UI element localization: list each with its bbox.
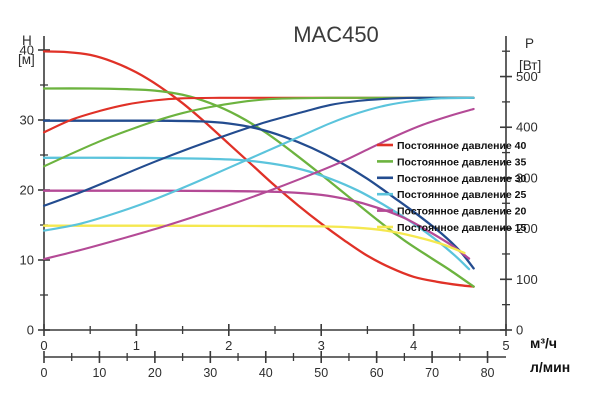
secondary-x-tick-label: 60	[370, 366, 384, 380]
secondary-x-tick-label: 70	[425, 366, 439, 380]
bottom-secondary-unit: л/мин	[530, 359, 570, 375]
left-tick-label: 20	[20, 183, 34, 198]
bottom-primary-unit: м³/ч	[530, 335, 557, 351]
chart-svg: MAC450 H [м] P [Вт] м³/ч л/мин 010203040…	[0, 0, 600, 400]
secondary-x-tick-label: 10	[92, 366, 106, 380]
secondary-x-tick-label: 0	[41, 366, 48, 380]
left-tick-label: 10	[20, 253, 34, 268]
legend-label-4: Постоянное давление 20	[397, 206, 527, 218]
legend-label-3: Постоянное давление 25	[397, 189, 527, 201]
right-tick-label: 400	[516, 120, 538, 135]
legend: Постоянное давление 40Постоянное давлени…	[377, 140, 527, 234]
curve-head-1	[44, 88, 474, 286]
legend-item[interactable]: Постоянное давление 15	[377, 222, 527, 234]
primary-x-tick-label: 1	[133, 338, 140, 353]
legend-item[interactable]: Постоянное давление 20	[377, 206, 527, 218]
right-tick-label: 0	[516, 323, 523, 338]
pump-performance-chart: MAC450 H [м] P [Вт] м³/ч л/мин 010203040…	[0, 0, 600, 400]
secondary-x-tick-label: 80	[481, 366, 495, 380]
legend-item[interactable]: Постоянное давление 25	[377, 189, 527, 201]
secondary-x-tick-label: 20	[148, 366, 162, 380]
secondary-x-tick-label: 50	[314, 366, 328, 380]
right-axis-name: P	[525, 36, 534, 51]
primary-x-tick-label: 0	[40, 338, 47, 353]
curve-group	[44, 51, 474, 286]
legend-item[interactable]: Постоянное давление 35	[377, 156, 527, 168]
primary-x-tick-label: 4	[410, 338, 417, 353]
right-tick-label: 100	[516, 272, 538, 287]
primary-x-tick-label: 2	[225, 338, 232, 353]
left-tick-label: 0	[27, 323, 34, 338]
legend-label-5: Постоянное давление 15	[397, 222, 527, 234]
legend-label-2: Постоянное давление 30	[397, 173, 527, 185]
legend-label-0: Постоянное давление 40	[397, 140, 527, 152]
right-tick-label: 500	[516, 69, 538, 84]
legend-item[interactable]: Постоянное давление 40	[377, 140, 527, 152]
chart-title: MAC450	[293, 22, 379, 47]
legend-item[interactable]: Постоянное давление 30	[377, 173, 527, 185]
primary-x-axis-ticks: 012345	[40, 324, 509, 353]
secondary-x-axis-ticks: 01020304050607080	[41, 351, 495, 380]
left-tick-label: 40	[20, 43, 34, 58]
left-tick-label: 30	[20, 113, 34, 128]
curve-head-0	[44, 51, 474, 286]
legend-label-1: Постоянное давление 35	[397, 156, 527, 168]
secondary-x-tick-label: 40	[259, 366, 273, 380]
secondary-x-tick-label: 30	[203, 366, 217, 380]
primary-x-tick-label: 5	[502, 338, 509, 353]
primary-x-tick-label: 3	[318, 338, 325, 353]
